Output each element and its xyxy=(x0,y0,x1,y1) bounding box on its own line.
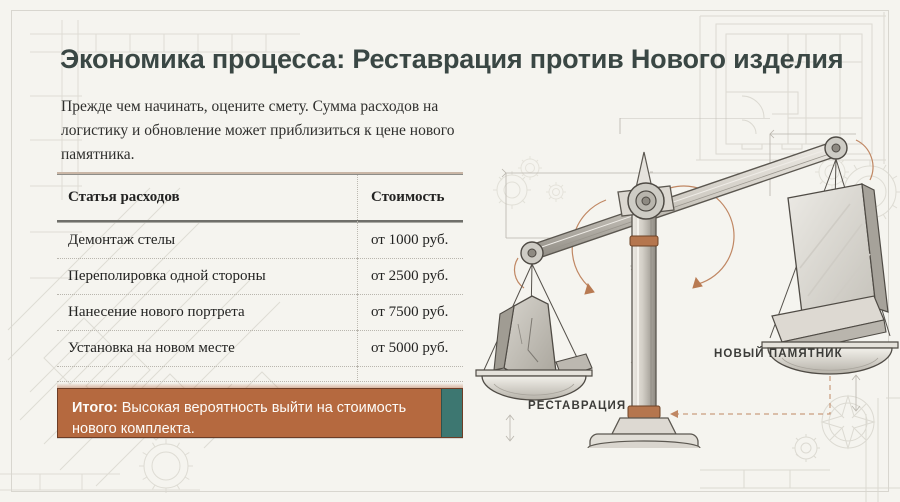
callout-body: Высокая вероятность выйти на стоимость н… xyxy=(72,400,406,437)
table-header-cost: Стоимость xyxy=(357,175,463,220)
row-item-label: Демонтаж стелы xyxy=(57,223,357,259)
callout-accent-bar xyxy=(441,389,462,437)
table-row: Нанесение нового портрета от 7500 руб. xyxy=(57,295,463,331)
table-row: Установка на новом месте от 5000 руб. xyxy=(57,331,463,367)
table-spacer-row xyxy=(57,367,463,382)
table-header-item: Статья расходов xyxy=(57,175,357,220)
row-cost-value: от 1000 руб. xyxy=(357,223,463,259)
callout-label: Итого: xyxy=(72,400,118,416)
callout-text: Итого: Высокая вероятность выйти на стои… xyxy=(72,398,432,440)
row-cost-value: от 5000 руб. xyxy=(357,331,463,367)
spacer-cell xyxy=(57,367,357,382)
total-callout: Итого: Высокая вероятность выйти на стои… xyxy=(57,388,463,438)
table-row: Демонтаж стелы от 1000 руб. xyxy=(57,223,463,259)
cost-table: Статья расходов Стоимость Демонтаж стелы… xyxy=(57,172,463,382)
row-cost-value: от 7500 руб. xyxy=(357,295,463,331)
row-cost-value: от 2500 руб. xyxy=(357,259,463,295)
table-column-divider xyxy=(357,175,358,382)
page-title: Экономика процесса: Реставрация против Н… xyxy=(60,44,843,75)
illustration-label-new-monument: НОВЫЙ ПАМЯТНИК xyxy=(714,348,843,360)
page-subtitle: Прежде чем начинать, оцените смету. Сумм… xyxy=(61,95,481,167)
row-item-label: Переполировка одной стороны xyxy=(57,259,357,295)
row-item-label: Нанесение нового портрета xyxy=(57,295,357,331)
slide-root: Экономика процесса: Реставрация против Н… xyxy=(0,0,900,502)
spacer-cell xyxy=(357,367,463,382)
table-row: Переполировка одной стороны от 2500 руб. xyxy=(57,259,463,295)
table-header-row: Статья расходов Стоимость xyxy=(57,175,463,220)
row-item-label: Установка на новом месте xyxy=(57,331,357,367)
balance-scale-illustration xyxy=(470,118,900,448)
illustration-label-restoration: РЕСТАВРАЦИЯ xyxy=(528,400,626,412)
